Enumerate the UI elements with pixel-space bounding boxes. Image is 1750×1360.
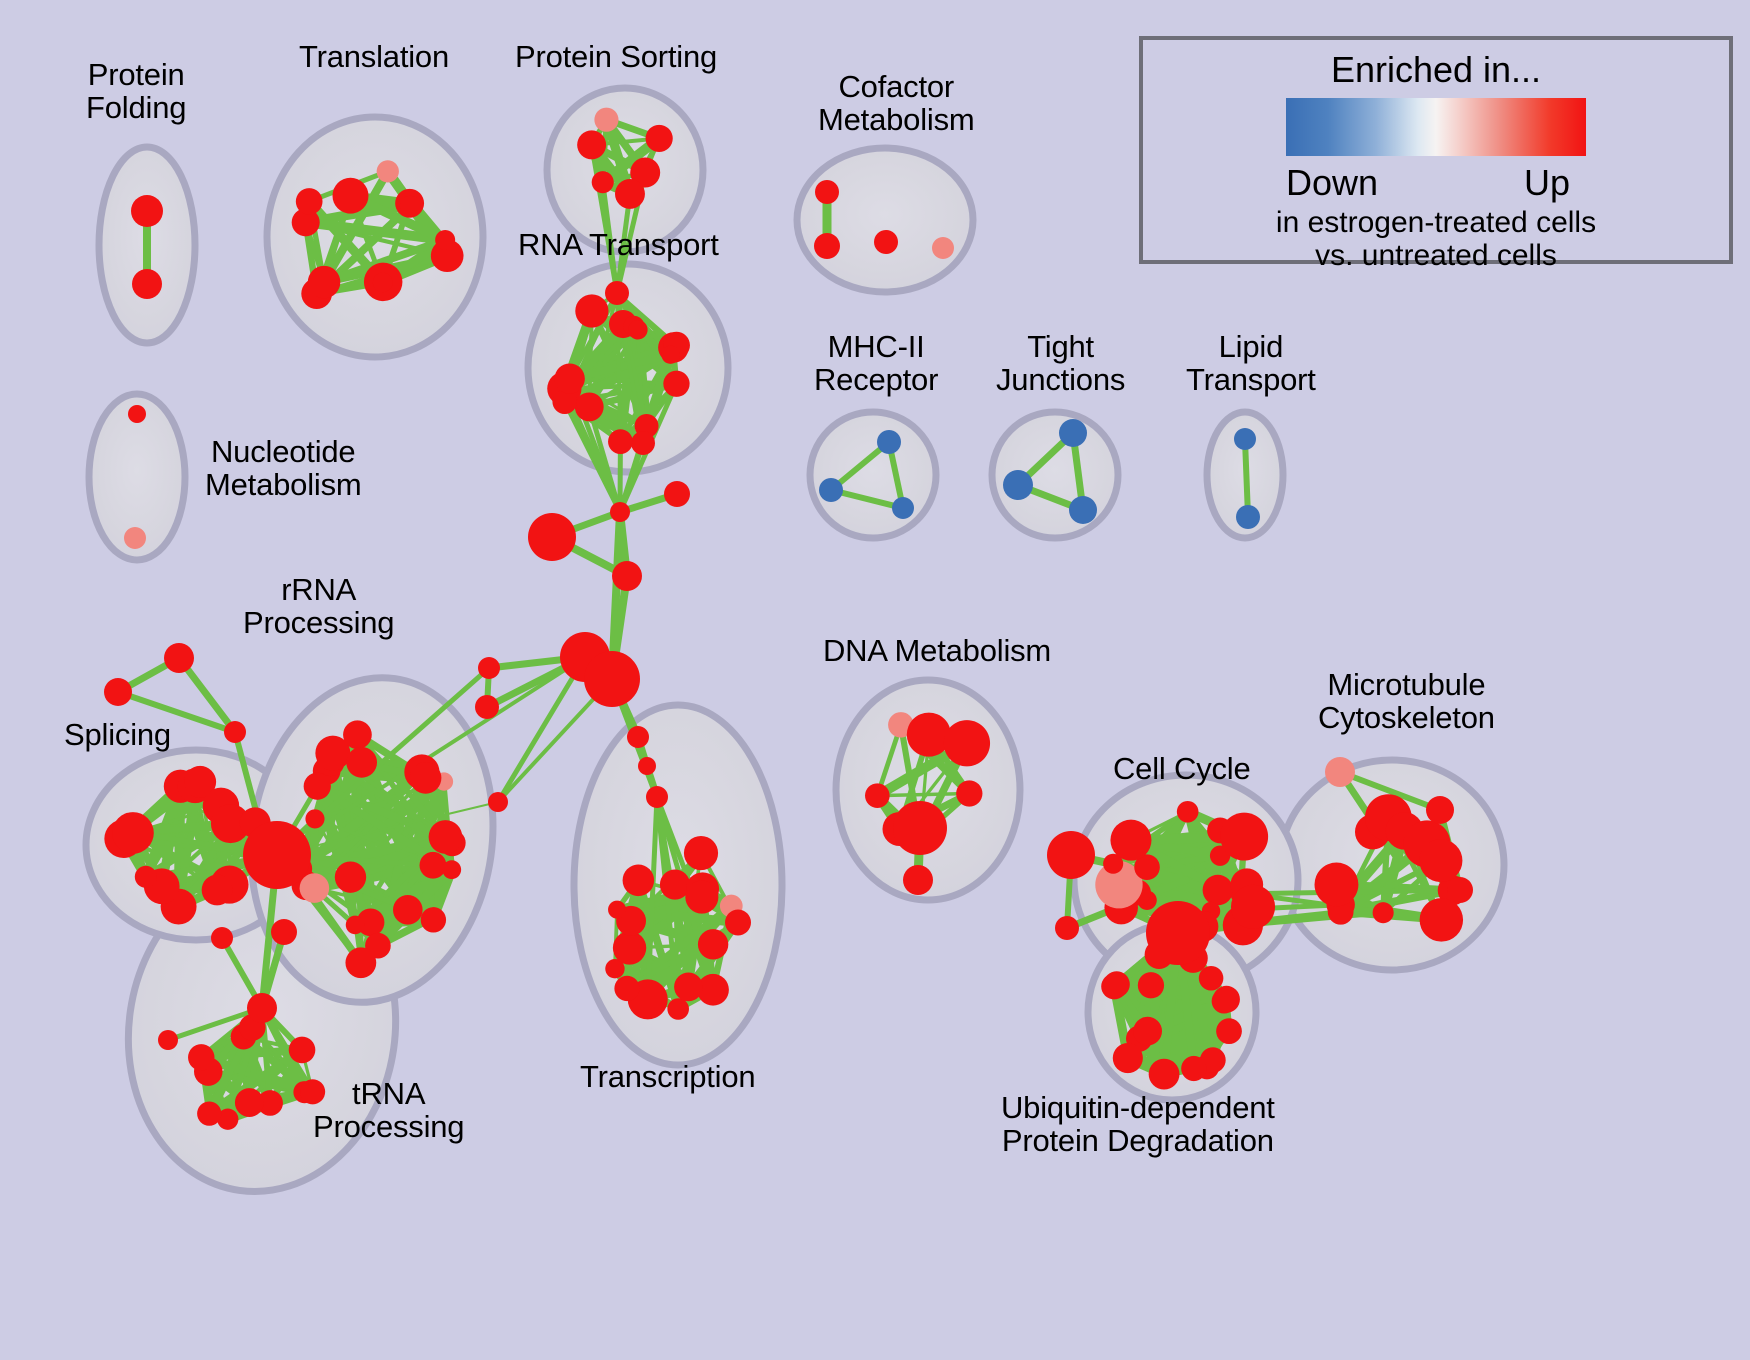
network-node: [421, 907, 446, 932]
legend-subtitle-line-2: vs. untreated cells: [1143, 239, 1729, 273]
network-node: [475, 695, 499, 719]
network-node: [124, 527, 146, 549]
network-node: [393, 895, 423, 925]
network-node: [202, 875, 233, 906]
network-node: [608, 429, 633, 454]
network-node: [305, 809, 324, 828]
network-node: [1426, 796, 1454, 824]
network-node: [332, 178, 368, 214]
network-node: [1447, 877, 1473, 903]
enrichment-map-figure: Protein FoldingTranslationProtein Sortin…: [0, 0, 1750, 1360]
network-node: [1315, 863, 1359, 907]
network-node: [615, 179, 645, 209]
network-node: [296, 188, 323, 215]
network-node: [271, 919, 297, 945]
network-node: [308, 266, 341, 299]
network-node: [435, 230, 455, 250]
network-node: [944, 720, 990, 766]
network-node: [819, 478, 843, 502]
network-node: [815, 180, 839, 204]
network-node: [932, 237, 954, 259]
network-node: [907, 713, 951, 757]
network-node: [373, 273, 393, 293]
network-node: [132, 269, 162, 299]
network-node: [1231, 885, 1275, 929]
network-node: [877, 430, 901, 454]
network-node: [1055, 916, 1079, 940]
network-node: [610, 502, 630, 522]
network-node: [304, 773, 331, 800]
network-node: [300, 873, 330, 903]
network-node: [685, 881, 718, 914]
network-node: [646, 786, 668, 808]
network-node: [1110, 820, 1151, 861]
network-node: [584, 651, 640, 707]
network-node: [1104, 971, 1130, 997]
network-node: [131, 195, 163, 227]
network-node: [661, 346, 679, 364]
network-node: [410, 762, 442, 794]
network-node: [1059, 419, 1087, 447]
network-node: [488, 792, 508, 812]
network-node: [346, 916, 365, 935]
network-node: [1203, 875, 1233, 905]
network-node: [903, 865, 933, 895]
legend-box: Enriched in... Down Up in estrogen-treat…: [1139, 36, 1733, 264]
legend-up-label: Up: [1524, 162, 1570, 204]
network-node: [627, 726, 649, 748]
network-node: [343, 720, 372, 749]
network-node: [874, 230, 898, 254]
network-node: [377, 160, 399, 182]
network-node: [892, 497, 914, 519]
network-node: [400, 196, 421, 217]
network-node: [664, 481, 690, 507]
network-node: [135, 866, 157, 888]
network-node: [1181, 1056, 1206, 1081]
network-node: [345, 947, 376, 978]
network-node: [698, 929, 728, 959]
network-edge: [1245, 440, 1248, 516]
network-node: [631, 431, 655, 455]
network-node: [300, 1079, 325, 1104]
network-node: [1003, 470, 1033, 500]
network-node: [1199, 966, 1224, 991]
network-node: [638, 757, 656, 775]
network-node: [605, 281, 629, 305]
network-node: [128, 405, 146, 423]
network-node: [1133, 1017, 1162, 1046]
network-node: [1419, 839, 1462, 882]
network-node: [346, 747, 377, 778]
network-node: [211, 927, 233, 949]
network-node: [623, 865, 655, 897]
legend-subtitle-line-1: in estrogen-treated cells: [1143, 206, 1729, 240]
network-node: [112, 812, 154, 854]
network-node: [1220, 813, 1268, 861]
network-node: [614, 976, 639, 1001]
network-node: [612, 561, 642, 591]
network-node: [725, 909, 751, 935]
network-node: [235, 1088, 264, 1117]
network-node: [575, 294, 608, 327]
network-node: [1420, 898, 1463, 941]
network-node: [1047, 831, 1095, 879]
network-node: [1138, 972, 1164, 998]
network-node: [956, 780, 982, 806]
network-node: [1373, 902, 1394, 923]
network-node: [1149, 1059, 1180, 1090]
network-node: [1069, 496, 1097, 524]
network-node: [188, 1044, 214, 1070]
network-node: [243, 821, 311, 889]
network-node: [592, 171, 614, 193]
network-node: [613, 931, 646, 964]
network-node: [1216, 1018, 1242, 1044]
network-node: [663, 371, 689, 397]
network-node: [814, 233, 840, 259]
network-node: [1325, 757, 1355, 787]
network-node: [442, 860, 461, 879]
network-node: [1113, 1043, 1143, 1073]
network-node: [594, 108, 618, 132]
network-node: [674, 972, 703, 1001]
network-node: [1212, 989, 1237, 1014]
network-node: [224, 721, 246, 743]
cluster-ellipse-mhc-ii-receptor: [810, 412, 936, 538]
network-node: [684, 836, 718, 870]
network-node: [1177, 801, 1199, 823]
network-node: [420, 852, 447, 879]
network-node: [1146, 901, 1210, 965]
network-node: [667, 998, 689, 1020]
legend-title: Enriched in...: [1143, 49, 1729, 91]
network-node: [197, 1101, 221, 1125]
network-node: [289, 1037, 316, 1064]
network-node: [608, 901, 626, 919]
network-node: [646, 125, 673, 152]
network-node: [247, 993, 277, 1023]
network-node: [1234, 428, 1256, 450]
network-node: [893, 801, 947, 855]
network-node: [164, 643, 194, 673]
network-node: [478, 657, 500, 679]
network-node: [528, 513, 576, 561]
network-node: [104, 678, 132, 706]
network-node: [429, 820, 463, 854]
network-node: [1236, 505, 1260, 529]
network-node: [555, 363, 585, 393]
network-node: [335, 861, 366, 892]
network-node: [628, 320, 648, 340]
legend-down-label: Down: [1286, 162, 1378, 204]
network-node: [577, 130, 606, 159]
network-node: [158, 1030, 178, 1050]
legend-color-bar: [1286, 98, 1586, 156]
network-node: [865, 783, 890, 808]
